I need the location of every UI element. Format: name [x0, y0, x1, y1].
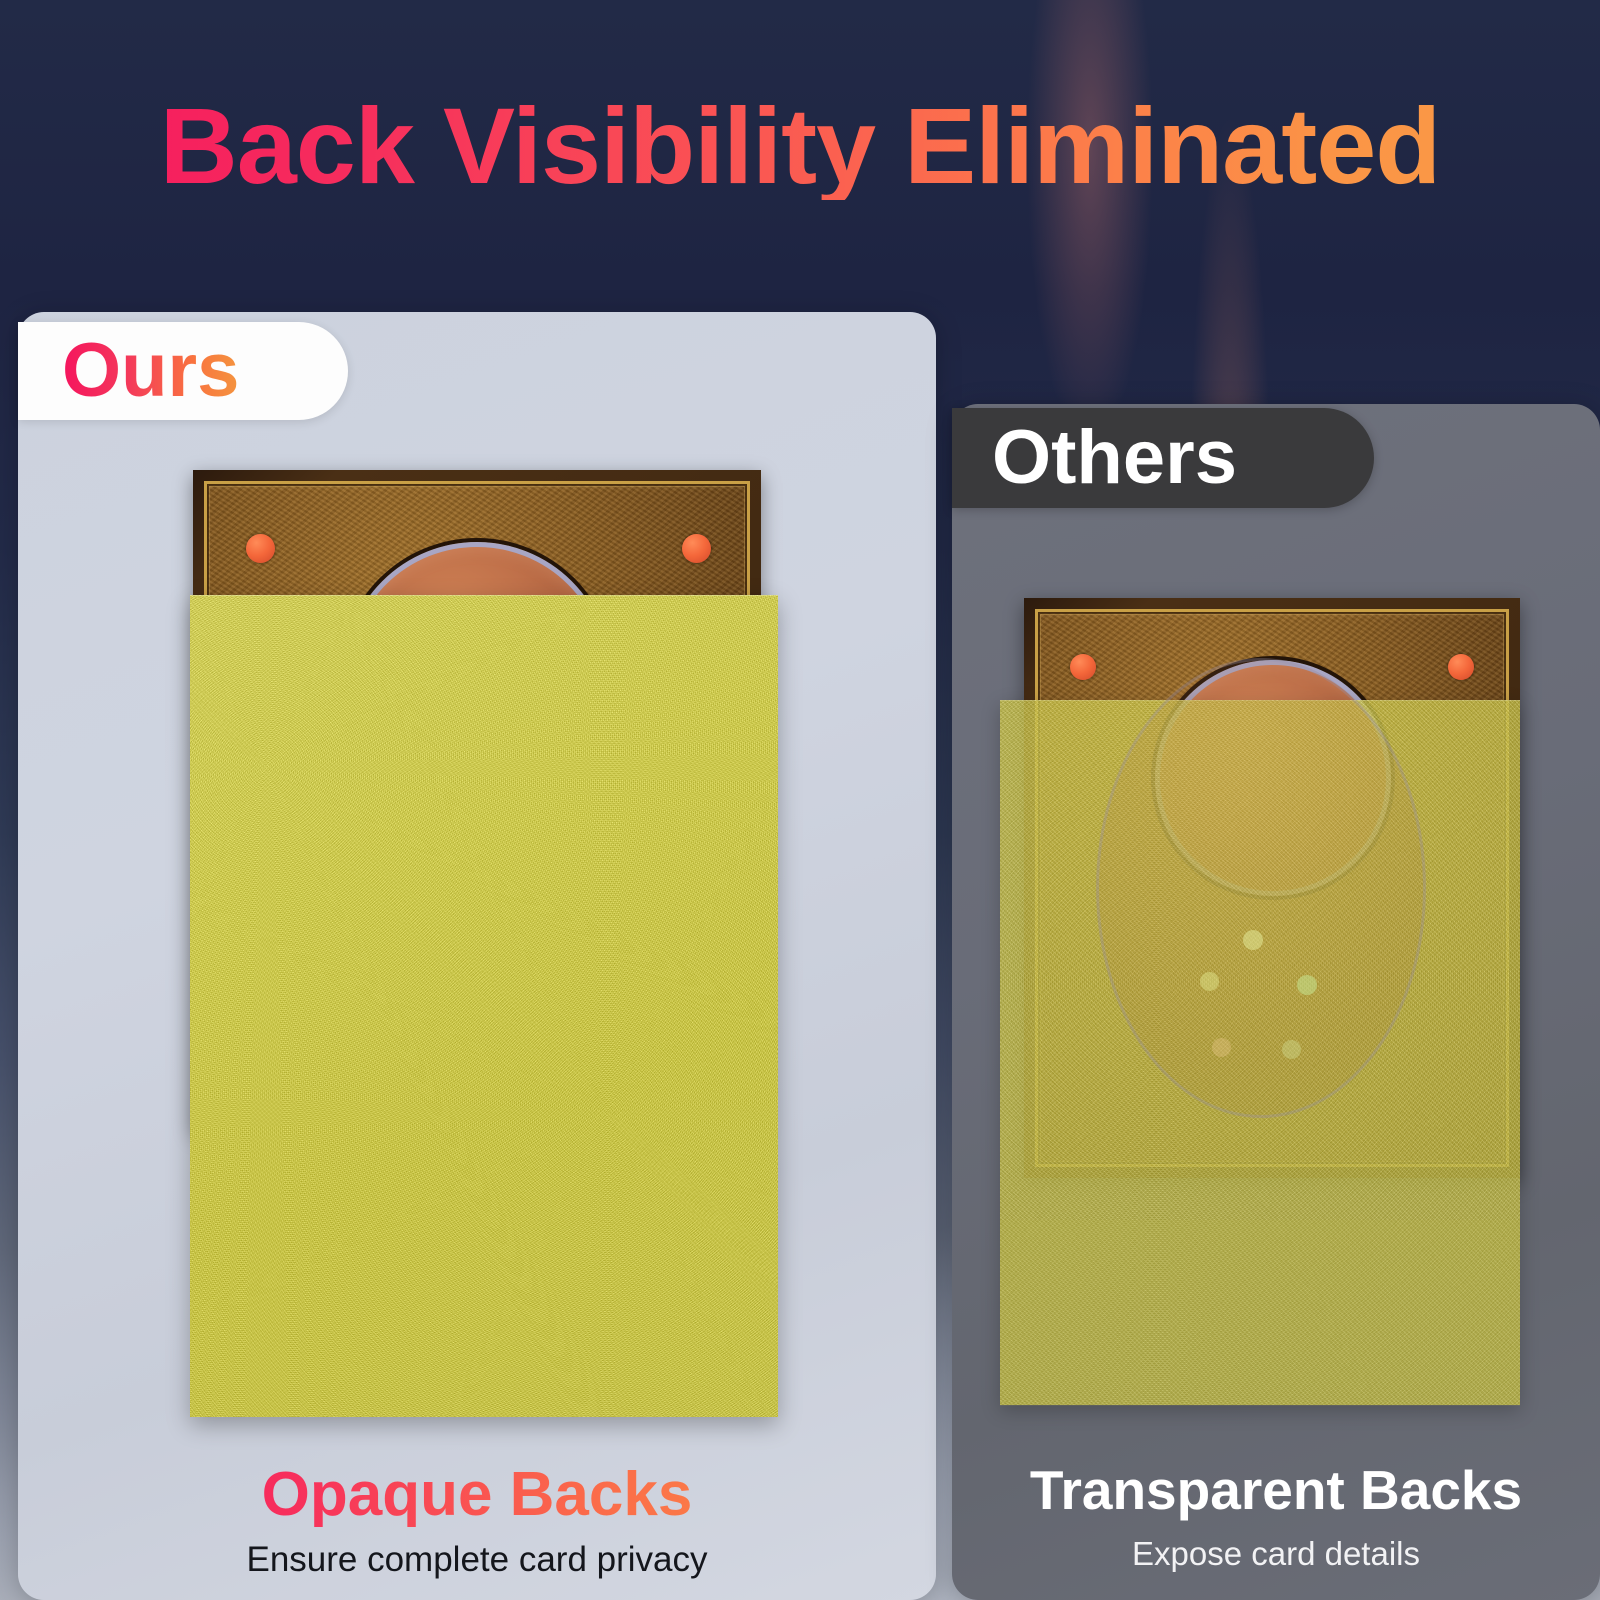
- show-through-speck-5: [1282, 1040, 1301, 1059]
- show-through-speck-4: [1212, 1038, 1231, 1057]
- card-corner-dot-left: [1070, 654, 1096, 680]
- show-through-speck-1: [1243, 930, 1263, 950]
- badge-others: Others: [952, 408, 1374, 508]
- badge-ours: Ours: [18, 322, 348, 420]
- caption-ours: Opaque Backs Ensure complete card privac…: [18, 1462, 936, 1581]
- opaque-sleeve-ours: [190, 595, 778, 1417]
- transparent-sleeve-others: [1000, 700, 1520, 1405]
- infographic-canvas: Back Visibility Eliminated: [0, 0, 1600, 1600]
- caption-others-title: Transparent Backs: [952, 1462, 1600, 1520]
- card-corner-dot-right: [1448, 654, 1474, 680]
- card-corner-dot-right: [682, 534, 711, 563]
- comparison-panel-others: [952, 404, 1600, 1600]
- comparison-panel-ours: [18, 312, 936, 1600]
- show-through-speck-3: [1297, 975, 1317, 995]
- caption-ours-title: Opaque Backs: [18, 1462, 936, 1527]
- page-title: Back Visibility Eliminated: [0, 92, 1600, 200]
- show-through-seal: [1096, 658, 1426, 1118]
- badge-ours-label: Ours: [62, 333, 239, 409]
- show-through-speck-2: [1200, 972, 1219, 991]
- caption-ours-subtitle: Ensure complete card privacy: [18, 1539, 936, 1581]
- show-through-bottom-band: [1000, 1220, 1520, 1406]
- caption-others-subtitle: Expose card details: [952, 1534, 1600, 1574]
- badge-others-label: Others: [992, 420, 1237, 496]
- card-corner-dot-left: [246, 534, 275, 563]
- caption-others: Transparent Backs Expose card details: [952, 1462, 1600, 1573]
